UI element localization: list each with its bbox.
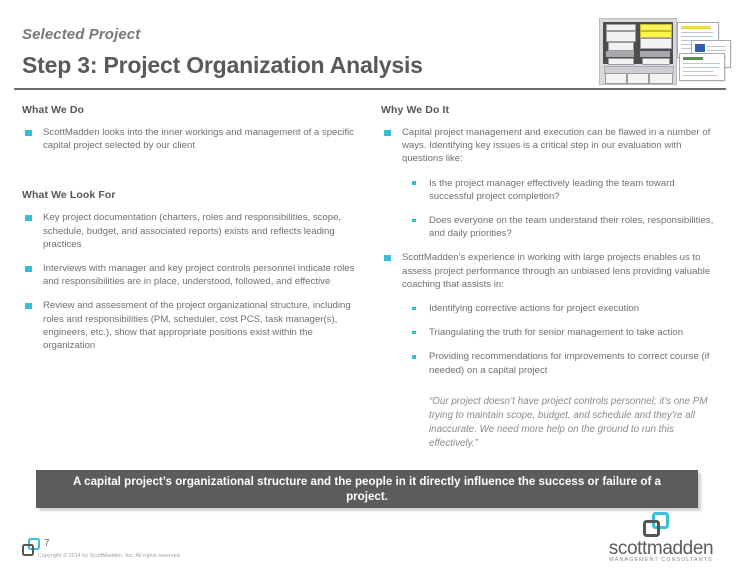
- thumbnail-panel: [599, 18, 677, 85]
- logo-square-dark: [643, 520, 660, 537]
- heading-why-we-do-it: Why We Do It: [381, 104, 721, 116]
- sub-bullet-item: Is the project manager effectively leadi…: [403, 177, 721, 203]
- thumbnail-cell: [606, 31, 636, 42]
- mark-square-dark: [22, 544, 34, 556]
- slide: Selected Project Step 3: Project Organiz…: [0, 0, 740, 572]
- page-title: Step 3: Project Organization Analysis: [22, 52, 423, 79]
- thumbnail-doc: [679, 53, 725, 81]
- bullet-item: ScottMadden looks into the inner working…: [22, 126, 367, 152]
- process-overview-thumbnail: [597, 16, 737, 85]
- thumbnail-cell: [642, 58, 670, 65]
- logo-tagline: MANAGEMENT CONSULTANTS: [600, 557, 722, 563]
- thumbnail-cell-highlight: [640, 31, 672, 38]
- bullet-item: Interviews with manager and key project …: [22, 262, 367, 288]
- scottmadden-logo: scottmadden MANAGEMENT CONSULTANTS: [600, 512, 722, 564]
- thumbnail-cell: [627, 73, 649, 84]
- thumbnail-documents: [677, 20, 735, 82]
- slide-header: Selected Project Step 3: Project Organiz…: [0, 0, 740, 96]
- bullet-item: Review and assessment of the project org…: [22, 299, 367, 352]
- sub-bullet-item: Triangulating the truth for senior manag…: [403, 326, 721, 339]
- thumbnail-cell: [608, 58, 634, 65]
- thumbnail-cell-highlight: [640, 24, 672, 31]
- left-column: What We Do ScottMadden looks into the in…: [22, 104, 367, 363]
- thumbnail-cell: [606, 24, 636, 31]
- page-number: 7: [44, 538, 50, 549]
- sub-bullet-item: Does everyone on the team understand the…: [403, 214, 721, 240]
- logo-mark-icon: [643, 512, 671, 538]
- thumbnail-cell: [640, 38, 672, 49]
- key-message-banner: A capital project’s organizational struc…: [36, 470, 698, 508]
- sub-bullet-item: Identifying corrective actions for proje…: [403, 302, 721, 315]
- bullet-item: ScottMadden’s experience in working with…: [381, 251, 721, 291]
- pull-quote: “Our project doesn’t have project contro…: [403, 395, 721, 451]
- title-divider: [14, 88, 726, 90]
- sub-bullet-item: Providing recommendations for improvemen…: [403, 350, 721, 376]
- heading-what-we-do: What We Do: [22, 104, 367, 116]
- heading-what-we-look-for: What We Look For: [22, 189, 367, 201]
- thumbnail-arrow: [606, 51, 634, 57]
- thumbnail-cell: [605, 73, 627, 84]
- right-column: Why We Do It Capital project management …: [381, 104, 721, 451]
- key-message-text: A capital project’s organizational struc…: [52, 474, 682, 504]
- copyright-text: Copyright © 2014 by ScottMadden, Inc. Al…: [38, 553, 181, 559]
- eyebrow-label: Selected Project: [22, 26, 140, 43]
- bullet-item: Capital project management and execution…: [381, 126, 721, 166]
- thumbnail-cell: [608, 42, 634, 51]
- thumbnail-arrow: [640, 51, 670, 57]
- bullet-item: Key project documentation (charters, rol…: [22, 211, 367, 251]
- thumbnail-cell: [649, 73, 673, 84]
